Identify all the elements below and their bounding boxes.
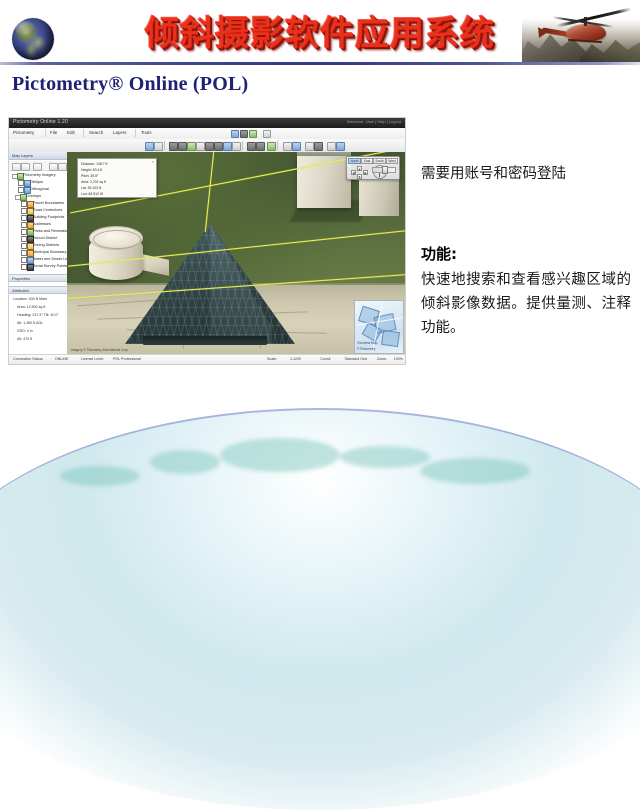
layers-panel[interactable]: Map Layers - Pictometry Imagery Oblique <box>9 152 68 355</box>
layers-panel-toolbar[interactable] <box>9 161 67 171</box>
tree-item-parks[interactable]: Parks and Recreation <box>11 228 67 235</box>
menubar-icon-1[interactable] <box>231 130 239 138</box>
status-scale-label: Scale: <box>267 357 277 361</box>
tree-item-parcel-boundaries[interactable]: Parcel Boundaries <box>11 200 67 207</box>
globe-arc-decoration <box>0 408 640 810</box>
status-connection-value: ONLINE <box>55 357 68 361</box>
panel-collapse-button[interactable] <box>49 163 58 171</box>
property-line-6: Alt: 470 ft <box>17 337 32 341</box>
toolbar-divider-2 <box>242 141 243 150</box>
measurement-line-4[interactable] <box>205 152 214 232</box>
minimap-credit: © Pictometry <box>357 347 375 351</box>
menu-item-layers[interactable]: Layers <box>113 130 127 135</box>
menubar-icon-4[interactable] <box>263 130 271 138</box>
toolbar-help-icon[interactable] <box>314 142 323 151</box>
pan-left-button[interactable]: ◀ <box>351 170 356 175</box>
popup-line-6: Lon: 84.512 W <box>81 192 103 196</box>
app-title-bar: Pictometry Online 1.20 Welcome, User | H… <box>9 118 405 128</box>
panel-expand-button[interactable] <box>33 163 42 171</box>
tree-item-overlays[interactable]: - Overlays <box>11 193 67 200</box>
map-viewport[interactable]: × Distance: 148.7 ft Height: 63.4 ft Pit… <box>67 152 405 355</box>
properties-section-header[interactable]: Properties <box>9 274 67 282</box>
toolbar-bookmark-icon[interactable] <box>292 142 301 151</box>
toolbar-refresh-icon[interactable] <box>336 142 345 151</box>
zoom-slider-handle[interactable] <box>382 166 388 174</box>
tree-item-label: Municipal Boundary <box>33 249 66 256</box>
status-connection-label: Connection Status: <box>13 357 43 361</box>
toolbar-divider-1 <box>164 141 165 150</box>
header-banner: 倾斜摄影软件应用系统 <box>0 0 640 65</box>
tree-item-label: Parks and Recreation <box>33 228 68 235</box>
toolbar-zoom-out-icon[interactable] <box>187 142 196 151</box>
pan-right-button[interactable]: ▶ <box>363 170 368 175</box>
nav-pan-pad[interactable]: ▲ ◀ ▶ ▼ <box>351 166 371 177</box>
status-scale-value: 1:1200 <box>290 357 301 361</box>
overview-minimap[interactable]: Overview Map © Pictometry <box>354 300 404 354</box>
tree-item-label: Zoning Districts <box>33 242 59 249</box>
panel-refresh-button[interactable] <box>58 163 67 171</box>
helicopter-photo <box>522 0 640 62</box>
tree-item-school-district[interactable]: School District <box>11 235 67 242</box>
menubar-icon-2[interactable] <box>240 130 248 138</box>
header-divider <box>0 62 640 65</box>
menu-divider-3 <box>135 129 136 137</box>
nav-tab-south[interactable]: South <box>373 158 386 164</box>
menu-item-search[interactable]: Search <box>89 130 103 135</box>
tree-item-addresses[interactable]: Addresses <box>11 221 67 228</box>
minimap-label: Overview Map <box>357 341 377 345</box>
tree-item-label: Building Footprints <box>33 214 64 221</box>
popup-line-4: Area: 2,231 sq ft <box>81 180 106 184</box>
nav-tab-west[interactable]: West <box>386 158 398 164</box>
pictometry-online-screenshot: Pictometry Online 1.20 Welcome, User | H… <box>8 117 406 365</box>
tree-item-municipal-boundary[interactable]: Municipal Boundary <box>11 249 67 256</box>
toolbar-measure-area-icon[interactable] <box>214 142 223 151</box>
minimap-parcel-4 <box>381 330 400 347</box>
pan-down-button[interactable]: ▼ <box>357 174 362 179</box>
tree-item-label: Aerial Survey Points <box>33 263 67 270</box>
status-zoom-label: Zoom: <box>377 357 387 361</box>
toolbar-annotate-icon[interactable] <box>232 142 241 151</box>
tree-item-label: Addresses <box>33 221 51 228</box>
status-coord-label: Coord: <box>320 357 331 361</box>
toolbar-fullscreen-icon[interactable] <box>327 142 336 151</box>
close-icon[interactable]: × <box>152 160 154 164</box>
property-line-2: Area: 12,500 sq ft <box>17 305 45 309</box>
arc-landmass-2 <box>150 450 220 474</box>
measurement-popup[interactable]: × Distance: 148.7 ft Height: 63.4 ft Pit… <box>77 158 157 198</box>
toolbar-identify-icon[interactable] <box>196 142 205 151</box>
menu-item-pictometry[interactable]: Pictometry <box>13 130 34 135</box>
property-line-5: GSD: 4 in <box>17 329 33 333</box>
tree-item-label: Parcel Boundaries <box>33 200 64 207</box>
toolbar-rotate-left-icon[interactable] <box>247 142 256 151</box>
nav-tab-east[interactable]: East <box>361 158 373 164</box>
app-account-links: Welcome, User | Help | Logout <box>347 119 401 124</box>
tree-item-oblique[interactable]: Oblique <box>11 179 67 186</box>
tree-item-label: School District <box>33 235 57 242</box>
pan-up-button[interactable]: ▲ <box>357 166 362 171</box>
tree-item-building-footprints[interactable]: Building Footprints <box>11 214 67 221</box>
property-line-3: Heading: 237.5° Tilt: 40.0° <box>17 313 59 317</box>
toolbar-measure-distance-icon[interactable] <box>205 142 214 151</box>
tree-item-label: Water and Sewer Lines <box>33 256 68 263</box>
status-license-label: License Level: <box>81 357 104 361</box>
popup-line-1: Distance: 148.7 ft <box>81 162 107 166</box>
menu-item-file[interactable]: File <box>50 130 57 135</box>
toolbar-rotate-right-icon[interactable] <box>256 142 265 151</box>
status-license-value: POL Professional <box>113 357 141 361</box>
popup-line-2: Height: 63.4 ft <box>81 168 102 172</box>
tree-item-zoning-districts[interactable]: Zoning Districts <box>11 242 67 249</box>
map-navigation-control[interactable]: North East South West ▲ ◀ ▶ ▼ <box>346 156 400 180</box>
tree-item-orthogonal[interactable]: Orthogonal <box>11 186 67 193</box>
menu-item-edit[interactable]: Edit <box>67 130 75 135</box>
toolbar-zoom-in-icon[interactable] <box>178 142 187 151</box>
layers-panel-header: Map Layers <box>9 152 67 160</box>
tree-item-road-centerlines[interactable]: Road Centerlines <box>11 207 67 214</box>
login-note: 需要用账号和密码登陆 <box>421 163 633 185</box>
property-line-4: Alt: 1,450 ft AGL <box>17 321 43 325</box>
arc-landmass-4 <box>420 458 530 484</box>
app-status-bar: Connection Status: ONLINE License Level:… <box>9 354 405 364</box>
tree-item-label: Orthogonal <box>30 186 49 193</box>
arc-landmass-5 <box>60 466 140 486</box>
tree-item-label: Overlays <box>26 193 41 200</box>
toolbar-measure-height-icon[interactable] <box>223 142 232 151</box>
features-body: 快速地搜索和查看感兴趣区域的倾斜影像数据。提供量测、注释功能。 <box>421 268 631 340</box>
property-line-1: Location: 400 N Main <box>13 297 47 301</box>
menubar-icon-3[interactable] <box>249 130 257 138</box>
nav-direction-tabs[interactable]: North East South West <box>348 158 398 164</box>
nav-tab-north[interactable]: North <box>348 158 361 164</box>
tree-item-survey-points[interactable]: Aerial Survey Points <box>11 263 67 270</box>
menu-divider-1 <box>45 129 46 137</box>
status-zoom-value: 100% <box>394 357 403 361</box>
arc-landmass-3 <box>340 446 430 468</box>
toolbar-open-icon[interactable] <box>145 142 154 151</box>
layer-tree[interactable]: - Pictometry Imagery Oblique Orthogonal … <box>11 172 67 270</box>
menu-item-tools[interactable]: Tools <box>141 130 152 135</box>
tree-item-label: Pictometry Imagery <box>23 172 56 179</box>
panel-add-layer-button[interactable] <box>12 163 21 171</box>
map-attribution: Imagery © Pictometry International Corp. <box>71 348 129 352</box>
popup-line-5: Lat: 39.103 N <box>81 186 101 190</box>
attributes-section-header[interactable]: Attributes <box>9 286 67 294</box>
panel-remove-layer-button[interactable] <box>21 163 30 171</box>
toolbar-divider-3 <box>277 141 278 150</box>
tree-item-root[interactable]: - Pictometry Imagery <box>11 172 67 179</box>
tree-item-water-sewer[interactable]: Water and Sewer Lines <box>11 256 67 263</box>
toolbar-layers-icon[interactable] <box>283 142 292 151</box>
status-coord-value: Standard Grid <box>345 357 367 361</box>
menu-divider-2 <box>83 129 84 137</box>
app-toolbar[interactable] <box>9 139 405 153</box>
app-title: Pictometry Online 1.20 <box>13 119 68 125</box>
arc-landmass-1 <box>220 438 340 472</box>
slide-subtitle: Pictometry® Online (POL) <box>12 73 248 96</box>
toolbar-pan-icon[interactable] <box>169 142 178 151</box>
tree-item-label: Road Centerlines <box>33 207 62 214</box>
popup-line-3: Pitch: 39.8° <box>81 174 98 178</box>
features-heading: 功能: <box>421 243 457 264</box>
toolbar-export-icon[interactable] <box>267 142 276 151</box>
tree-item-label: Oblique <box>30 179 43 186</box>
toolbar-print-icon[interactable] <box>154 142 163 151</box>
rotunda-rim <box>93 230 141 249</box>
toolbar-settings-icon[interactable] <box>305 142 314 151</box>
pyramid-base <box>143 336 267 345</box>
